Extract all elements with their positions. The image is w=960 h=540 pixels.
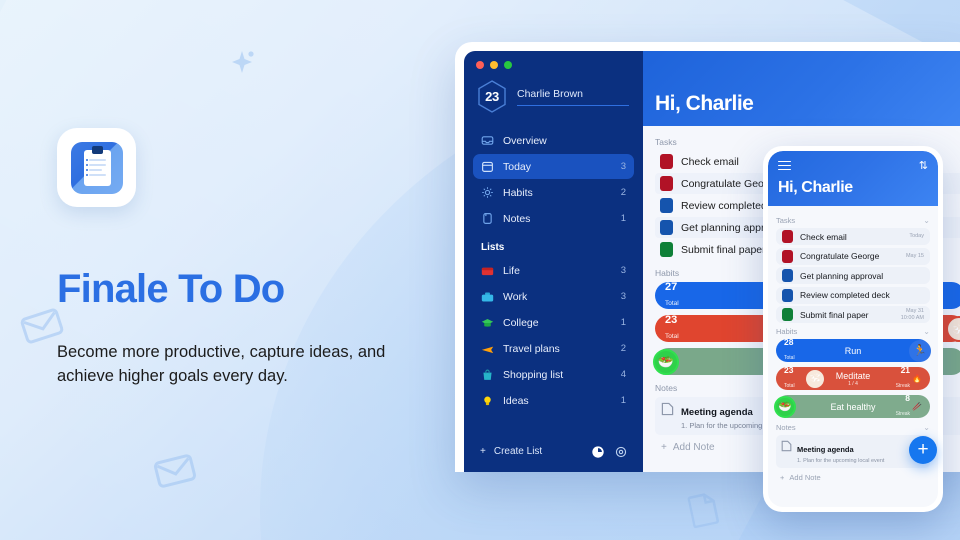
task-title: Check email: [800, 232, 902, 242]
habit-total-label: Total: [784, 355, 795, 361]
habit-total: 28 Total: [784, 338, 795, 363]
lists-section-label: Lists: [481, 242, 643, 253]
list-item[interactable]: Submit final paper May 31 10:00 AM: [776, 306, 930, 323]
sidebar-item-college[interactable]: College 1: [473, 310, 634, 335]
sidebar-item-count: 2: [621, 343, 626, 354]
list-item[interactable]: Meeting agenda 1. Plan for the upcoming …: [776, 435, 930, 468]
habit-total-label: Total: [665, 333, 679, 340]
sidebar-item-label: Overview: [503, 135, 617, 147]
sidebar-item-count: 1: [621, 213, 626, 224]
minimize-icon[interactable]: [490, 61, 498, 69]
habit-total-value: 23: [784, 366, 795, 375]
task-color-swatch: [660, 198, 673, 213]
graduation-icon: [481, 316, 494, 329]
task-title: Submit final paper: [681, 244, 766, 256]
close-icon[interactable]: [476, 61, 484, 69]
sidebar-item-life[interactable]: Life 3: [473, 258, 634, 283]
meditate-emoji-icon: 🕉: [946, 316, 960, 342]
hamburger-menu-icon[interactable]: [778, 161, 791, 171]
note-page-icon: [781, 439, 792, 464]
sidebar-item-travel-plans[interactable]: Travel plans 2: [473, 336, 634, 361]
page-title: Finale To Do: [57, 269, 417, 309]
plus-icon: +: [661, 442, 667, 453]
sidebar-footer: + Create List: [464, 444, 643, 472]
note-icon: [481, 212, 494, 225]
hero-subtitle: Become more productive, capture ideas, a…: [57, 341, 387, 389]
sidebar-item-label: Shopping list: [503, 369, 612, 381]
phone-header: ⇅ Hi, Charlie: [768, 151, 938, 206]
flame-icon: 🔥: [912, 375, 922, 383]
briefcase-icon: [481, 290, 494, 303]
sidebar: 23 Charlie Brown Overview Today 3: [464, 51, 643, 472]
phone-tasks-label: Tasks: [776, 216, 795, 225]
sidebar-item-count: 4: [621, 369, 626, 380]
task-title: Submit final paper: [800, 310, 894, 320]
phone-notes-section-header[interactable]: Notes ⌄: [776, 423, 930, 432]
sidebar-item-count: 2: [621, 187, 626, 198]
habit-streak-value: 8: [896, 394, 910, 403]
task-color-swatch: [782, 230, 793, 243]
avatar: 23: [477, 80, 507, 113]
note-title: Meeting agenda: [797, 445, 854, 454]
timer-icon[interactable]: [590, 444, 605, 459]
sidebar-item-ideas[interactable]: Ideas 1: [473, 388, 634, 413]
note-subtitle: 1. Plan for the upcoming local event: [797, 458, 884, 464]
sidebar-item-count: 1: [621, 317, 626, 328]
habit-total-value: 28: [784, 338, 795, 347]
habit-card-meditate[interactable]: 23 Total Meditate 1 / 4 21 Streak 🔥 🕉: [776, 367, 930, 390]
note-page-icon: [661, 402, 674, 421]
phone-habits-label: Habits: [776, 327, 797, 336]
sidebar-item-shopping-list[interactable]: Shopping list 4: [473, 362, 634, 387]
inbox-icon: [481, 134, 494, 147]
window-traffic-lights[interactable]: [464, 51, 643, 69]
avatar-badge-number: 23: [477, 80, 507, 113]
envelope-decor-bottom: [152, 451, 199, 492]
phone-habits-section-header[interactable]: Habits ⌄: [776, 327, 930, 336]
document-decor: [687, 489, 721, 528]
sort-updown-icon[interactable]: ⇅: [919, 159, 928, 172]
hero-section: Finale To Do Become more productive, cap…: [57, 128, 417, 389]
create-list-button[interactable]: Create List: [494, 446, 582, 457]
list-item[interactable]: Congratulate George May 15: [776, 248, 930, 265]
list-item[interactable]: Get planning approval: [776, 267, 930, 284]
task-date: May 31 10:00 AM: [901, 308, 924, 322]
sidebar-item-overview[interactable]: Overview: [473, 128, 634, 153]
task-color-swatch: [782, 308, 793, 321]
chopsticks-icon: 🥢: [912, 403, 922, 411]
sidebar-item-label: Notes: [503, 213, 612, 225]
gear-icon[interactable]: [613, 444, 628, 459]
habit-card-eat-healthy[interactable]: Eat healthy 8 Streak 🥢 🥗: [776, 395, 930, 418]
sidebar-item-today[interactable]: Today 3: [473, 154, 634, 179]
phone-greeting: Hi, Charlie: [778, 179, 928, 197]
maximize-icon[interactable]: [504, 61, 512, 69]
task-color-swatch: [660, 154, 673, 169]
plus-icon: +: [780, 473, 784, 482]
sidebar-item-count: 3: [621, 291, 626, 302]
add-plus-fab[interactable]: +: [909, 436, 937, 464]
sidebar-item-label: Ideas: [503, 395, 612, 407]
sidebar-item-count: 1: [621, 395, 626, 406]
habit-name: Run: [776, 346, 930, 356]
habit-streak-label: Streak: [896, 383, 910, 389]
habit-total-label: Total: [784, 383, 795, 389]
task-color-swatch: [782, 250, 793, 263]
sidebar-item-label: Life: [503, 265, 612, 277]
sun-icon: [481, 186, 494, 199]
task-title: Check email: [681, 156, 739, 168]
run-emoji-icon: 🏃: [909, 340, 931, 362]
task-color-swatch: [660, 176, 673, 191]
mobile-app-mockup: ⇅ Hi, Charlie Tasks ⌄ Check email Today …: [763, 146, 943, 512]
eat-healthy-emoji-icon: 🥗: [774, 396, 796, 418]
list-item[interactable]: Review completed deck: [776, 287, 930, 304]
airplane-icon: [481, 342, 494, 355]
desktop-greeting: Hi, Charlie: [655, 92, 753, 116]
sidebar-item-label: Today: [503, 161, 612, 173]
habit-card-run[interactable]: 28 Total Run 🏃: [776, 339, 930, 362]
task-color-swatch: [782, 269, 793, 282]
add-note-label: Add Note: [789, 473, 820, 482]
sidebar-item-label: Habits: [503, 187, 612, 199]
sidebar-item-count: 3: [621, 265, 626, 276]
lightbulb-icon: [481, 394, 494, 407]
habit-total-label: Total: [665, 300, 679, 307]
habit-streak-label: Streak: [896, 411, 910, 417]
habit-total-value: 23: [665, 315, 679, 326]
add-note-button[interactable]: + Add Note: [776, 468, 930, 487]
habit-total: 27 Total: [665, 282, 679, 309]
sidebar-item-notes[interactable]: Notes 1: [473, 206, 634, 231]
eat-healthy-emoji-icon: 🥗: [653, 349, 679, 375]
task-date: May 15: [906, 253, 924, 260]
sidebar-item-label: Travel plans: [503, 343, 612, 355]
habit-streak: 21 Streak 🔥: [896, 366, 922, 391]
sidebar-item-label: Work: [503, 291, 612, 303]
habit-streak-value: 21: [896, 366, 910, 375]
calendar-icon: [481, 160, 494, 173]
shopping-bag-icon: [481, 368, 494, 381]
task-color-swatch: [660, 220, 673, 235]
chevron-down-icon[interactable]: ⌄: [923, 216, 930, 225]
task-color-swatch: [660, 242, 673, 257]
phone-tasks-section-header[interactable]: Tasks ⌄: [776, 216, 930, 225]
task-date: Today: [909, 233, 924, 240]
habit-total-value: 27: [665, 282, 679, 293]
sidebar-item-work[interactable]: Work 3: [473, 284, 634, 309]
profile-row[interactable]: 23 Charlie Brown: [464, 69, 643, 113]
profile-name: Charlie Brown: [517, 88, 629, 106]
add-note-label: Add Note: [673, 442, 715, 453]
sidebar-nav: Overview Today 3 Habits 2: [464, 127, 643, 414]
chevron-down-icon[interactable]: ⌄: [923, 327, 930, 336]
sparkle-decor: [228, 45, 264, 81]
sidebar-item-label: College: [503, 317, 612, 329]
habit-total: 23 Total: [784, 366, 795, 391]
habit-total: 23 Total: [665, 315, 679, 342]
chevron-down-icon[interactable]: ⌄: [923, 423, 930, 432]
task-title: Get planning approval: [800, 271, 917, 281]
habit-streak: 8 Streak 🥢: [896, 394, 922, 419]
plus-icon[interactable]: +: [480, 446, 486, 457]
task-color-swatch: [782, 289, 793, 302]
phone-notes-label: Notes: [776, 423, 796, 432]
task-title: Congratulate George: [800, 251, 899, 261]
list-item[interactable]: Check email Today: [776, 228, 930, 245]
desktop-header: Hi, Charlie: [643, 51, 960, 126]
meditate-emoji-icon: 🕉: [804, 368, 826, 390]
sidebar-item-habits[interactable]: Habits 2: [473, 180, 634, 205]
wallet-icon: [481, 264, 494, 277]
app-icon: [57, 128, 136, 207]
sidebar-item-count: 3: [621, 161, 626, 172]
task-title: Review completed deck: [800, 290, 917, 300]
note-title: Meeting agenda: [681, 407, 753, 418]
